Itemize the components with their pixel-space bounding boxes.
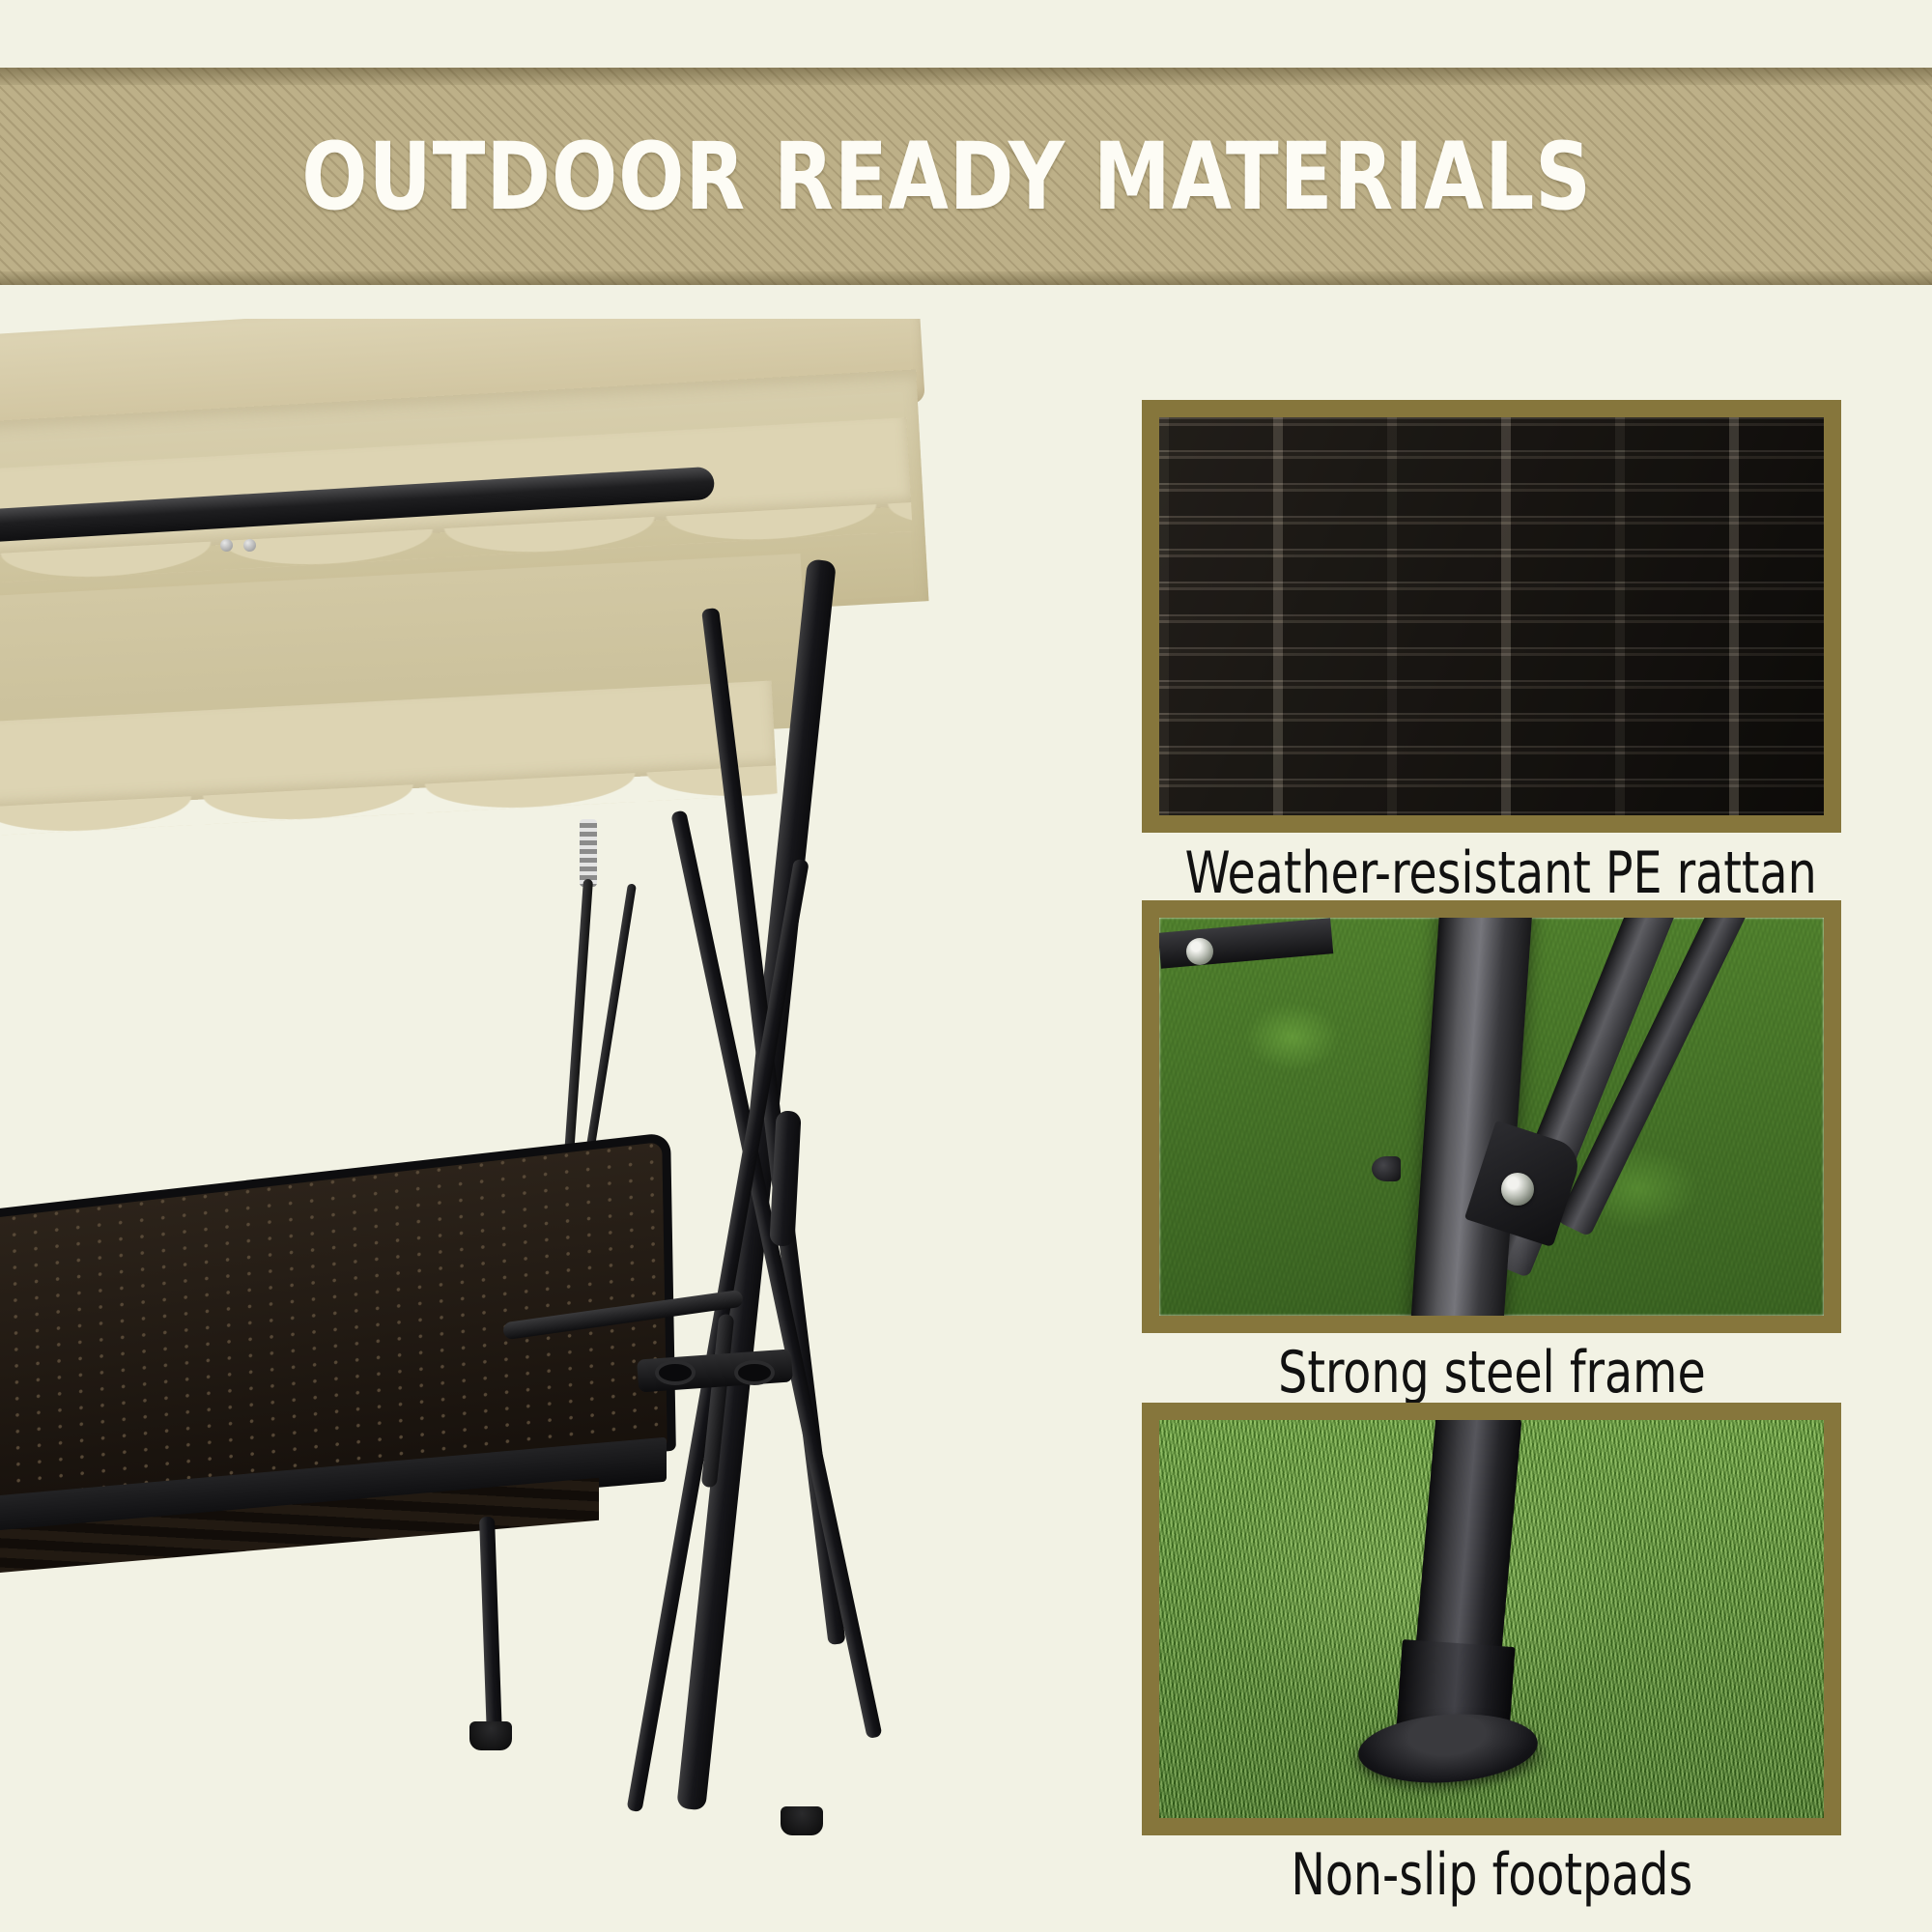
header-banner: OUTDOOR READY MATERIALS xyxy=(0,68,1932,285)
frame-rivet xyxy=(220,539,233,552)
steel-end-knob xyxy=(1372,1156,1401,1181)
caption-pe-rattan-text: Weather-resistant PE rattan xyxy=(1185,839,1817,907)
frame-leg-left-rear xyxy=(479,1517,502,1739)
caption-steel-frame-text: Strong steel frame xyxy=(1278,1339,1706,1406)
footpad-right xyxy=(781,1806,823,1835)
detail-panel-footpads xyxy=(1142,1403,1841,1835)
page-title-text: OUTDOOR READY MATERIALS xyxy=(301,123,1592,231)
frame-rivet xyxy=(243,539,256,552)
detail-panel-pe-rattan xyxy=(1142,400,1841,833)
cup-holder-ring xyxy=(734,1360,775,1385)
steel-bolt-secondary xyxy=(1186,938,1213,965)
banner-top-edge-shade xyxy=(0,68,1932,85)
caption-steel-frame: Strong steel frame xyxy=(1142,1339,1841,1406)
page-title: OUTDOOR READY MATERIALS xyxy=(0,123,1932,231)
caption-footpads: Non-slip footpads xyxy=(1142,1841,1841,1909)
hero-product-image xyxy=(0,319,1121,1932)
hanger-spring xyxy=(580,819,597,887)
cup-holder-ring xyxy=(655,1360,696,1385)
footpad-left xyxy=(469,1721,512,1750)
pe-rattan-weave-texture xyxy=(1159,417,1824,815)
caption-pe-rattan: Weather-resistant PE rattan xyxy=(1142,839,1841,907)
detail-panel-steel-frame xyxy=(1142,900,1841,1333)
banner-bottom-edge-shade xyxy=(0,271,1932,285)
steel-hex-bolt xyxy=(1501,1173,1534,1206)
caption-footpads-text: Non-slip footpads xyxy=(1291,1841,1692,1909)
